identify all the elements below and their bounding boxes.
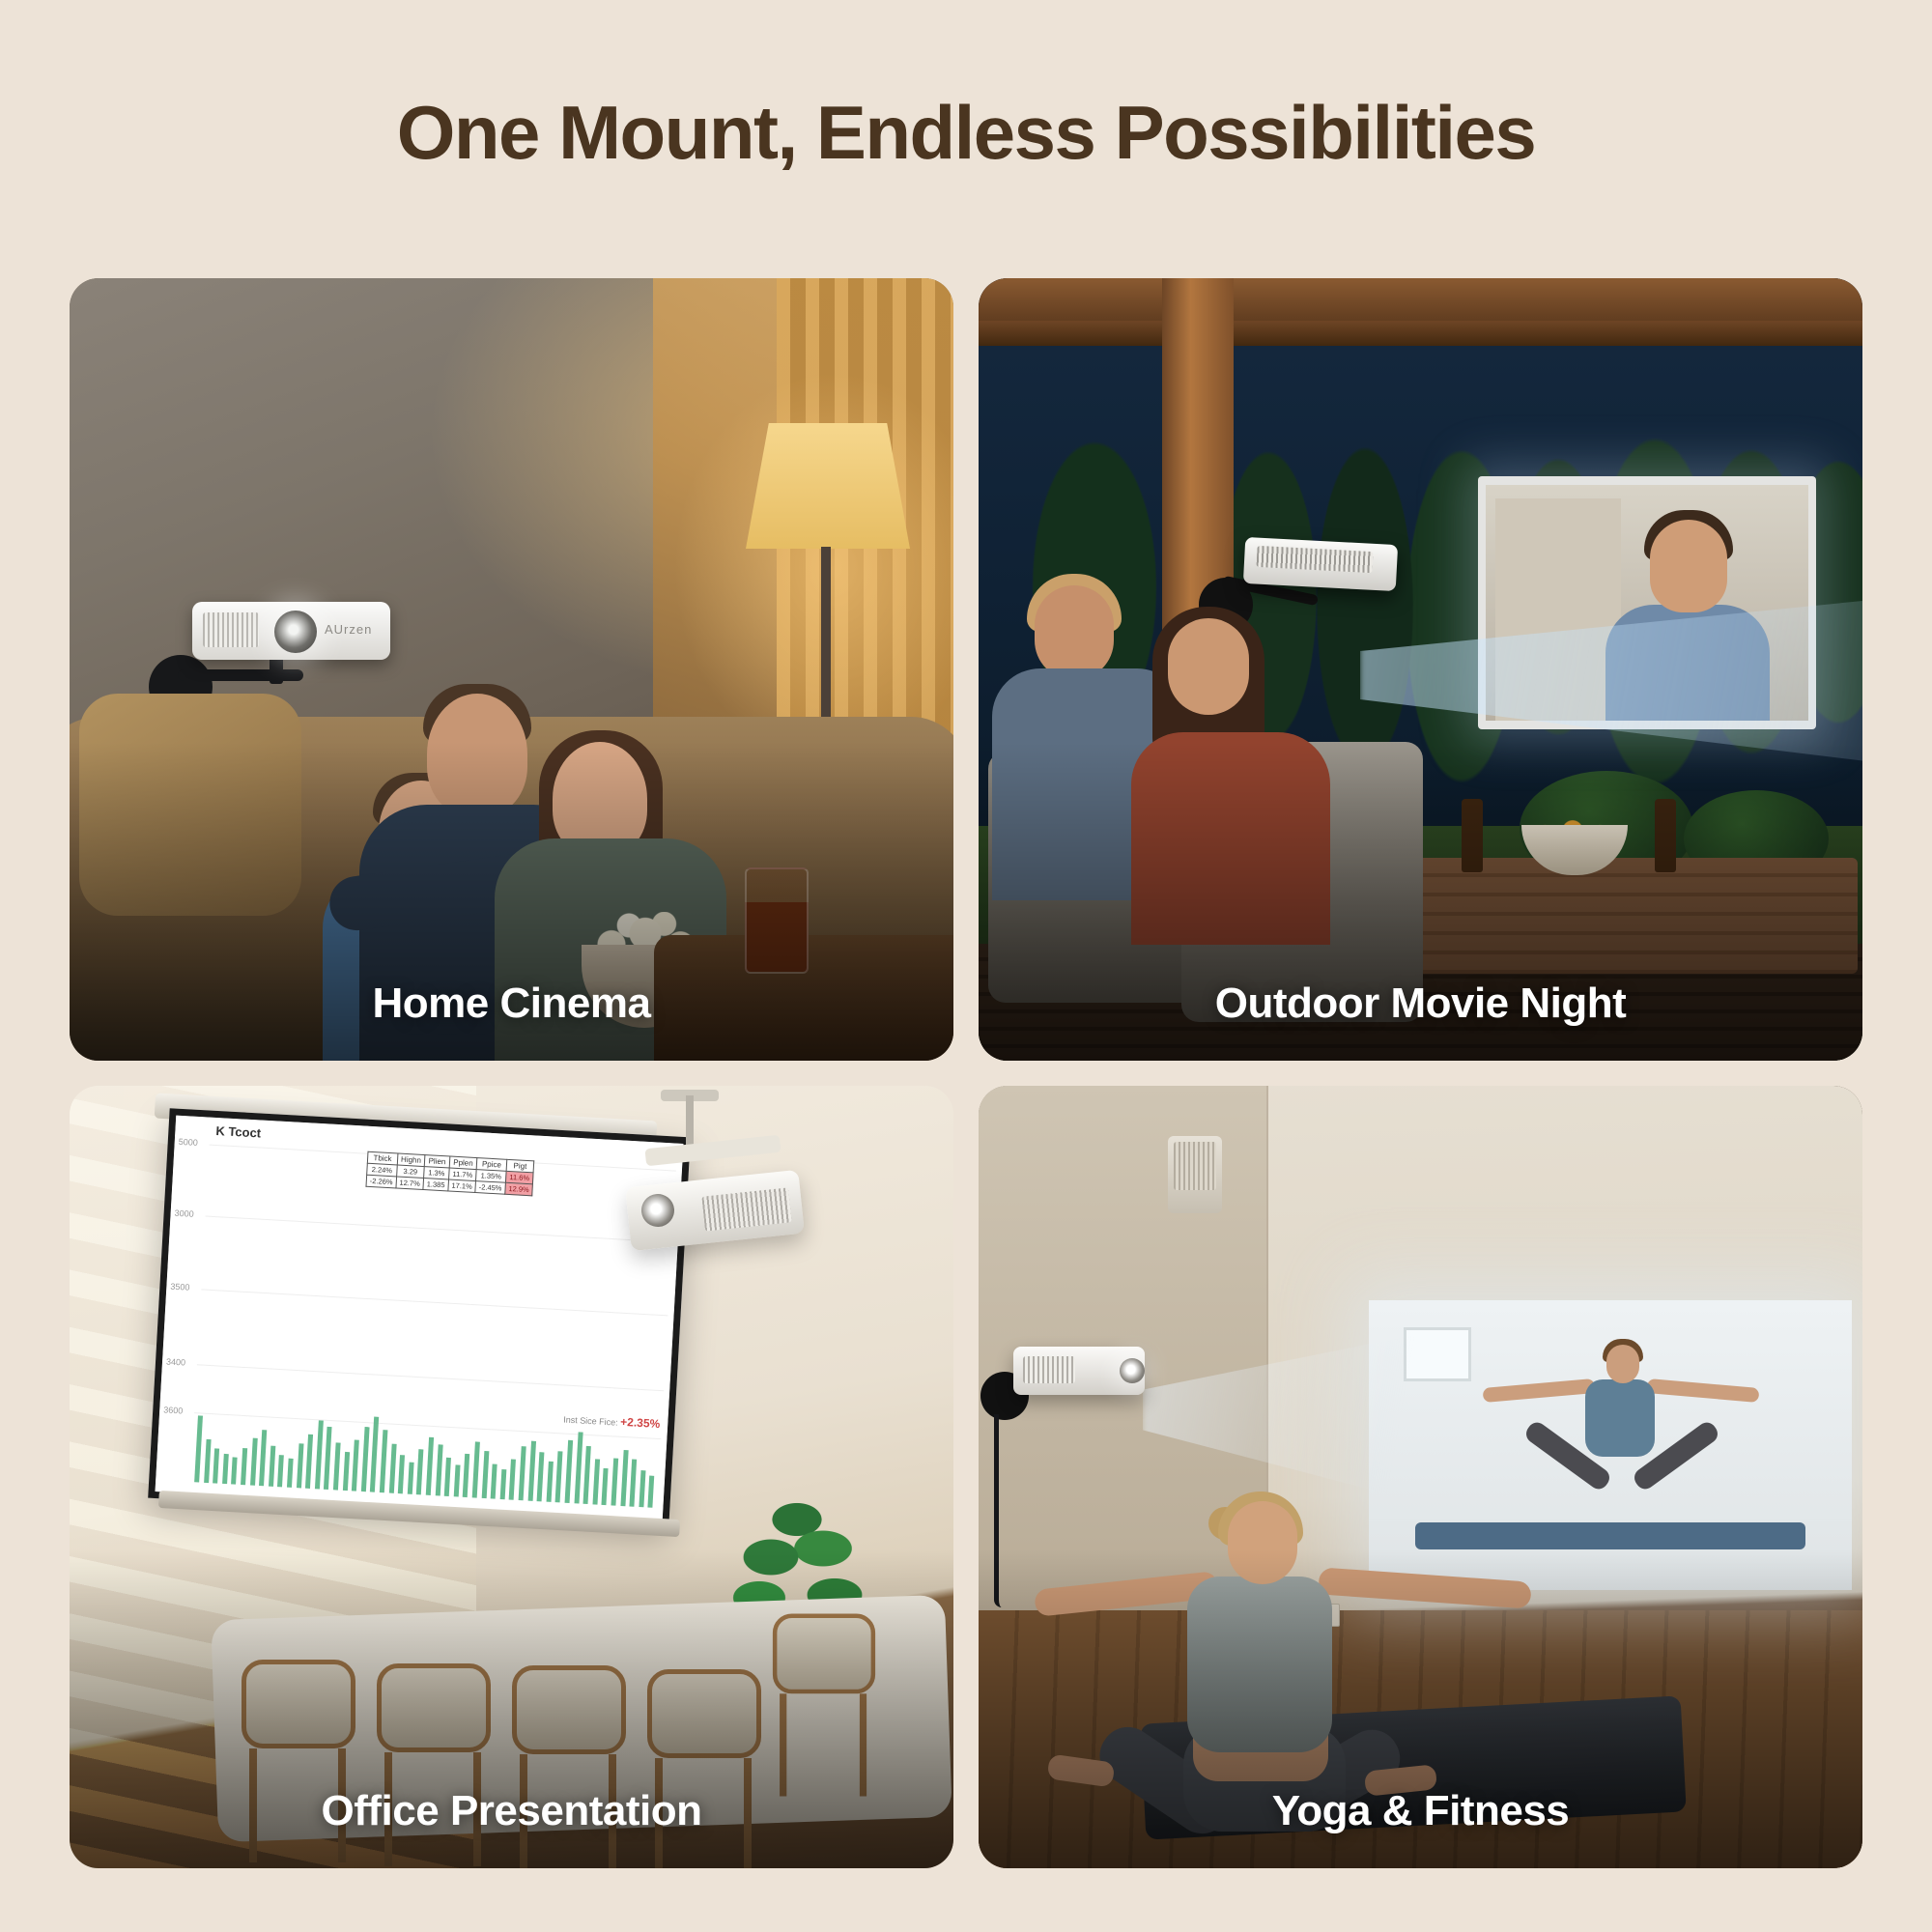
drink-glass — [745, 867, 809, 974]
volume-bar — [592, 1460, 600, 1505]
volume-bar — [250, 1438, 258, 1486]
chart-annotation-value: +2.35% — [620, 1415, 661, 1431]
panel-caption-home-cinema: Home Cinema — [70, 980, 953, 1028]
chart-annotation-label: Inst Sice Fice: — [563, 1415, 618, 1428]
feature-panel-grid: AUrzen Home Cinema — [70, 278, 1862, 1862]
panel-caption-office-presentation: Office Presentation — [70, 1787, 953, 1835]
volume-bar — [463, 1454, 469, 1497]
father-head — [427, 694, 527, 815]
panel-office-presentation[interactable]: K Tcoct 5000 3000 3500 3400 3600 — [70, 1086, 953, 1868]
panel-caption-outdoor-movie-night: Outdoor Movie Night — [979, 980, 1862, 1028]
sofa-cushion — [79, 694, 301, 916]
projector-vent-icon — [203, 612, 259, 647]
volume-bar — [222, 1454, 229, 1484]
panel-caption-yoga-fitness: Yoga & Fitness — [979, 1787, 1862, 1835]
projector-brand-label: AUrzen — [325, 622, 372, 637]
y-tick-label: 3600 — [163, 1405, 184, 1415]
volume-bar — [297, 1444, 304, 1489]
y-tick-label: 3400 — [166, 1356, 186, 1367]
volume-bar — [241, 1448, 247, 1485]
volume-bar — [380, 1430, 388, 1492]
volume-bar — [398, 1455, 405, 1493]
speaker-grille-icon — [1174, 1142, 1216, 1190]
volume-bar — [269, 1445, 275, 1487]
scene-yoga — [979, 1086, 1862, 1868]
volume-bar — [333, 1442, 341, 1490]
patio-table — [1394, 858, 1858, 974]
volume-bar — [435, 1444, 442, 1496]
volume-bar — [639, 1470, 645, 1507]
volume-bar — [620, 1450, 628, 1506]
office-chair — [371, 1663, 497, 1866]
volume-bar — [602, 1468, 609, 1505]
volume-bar — [519, 1446, 526, 1500]
office-chair — [506, 1665, 632, 1868]
volume-bar — [352, 1439, 359, 1492]
volume-bar — [546, 1461, 553, 1502]
page-title: One Mount, Endless Possibilities — [0, 89, 1932, 177]
scene-office: K Tcoct 5000 3000 3500 3400 3600 — [70, 1086, 953, 1868]
volume-bar — [361, 1427, 370, 1492]
volume-bar — [305, 1435, 313, 1489]
volume-bar — [194, 1415, 203, 1482]
power-cable — [994, 1414, 1002, 1607]
panel-home-cinema[interactable]: AUrzen Home Cinema — [70, 278, 953, 1061]
volume-bar — [630, 1460, 638, 1507]
volume-bar — [481, 1451, 489, 1498]
lamp-shade — [746, 423, 910, 549]
volume-bar — [204, 1439, 211, 1483]
projector-lens-icon — [1120, 1358, 1145, 1383]
wall-mount-arm — [178, 669, 303, 681]
volume-bar — [472, 1441, 480, 1497]
scene-outdoor — [979, 278, 1862, 1061]
volume-bar — [527, 1440, 535, 1501]
woman-head — [1228, 1501, 1297, 1584]
woman-sports-top — [1187, 1577, 1332, 1752]
volume-bar — [370, 1417, 379, 1492]
volume-bar — [416, 1449, 424, 1494]
volume-bar — [509, 1459, 516, 1500]
pergola-beam-secondary — [979, 321, 1862, 346]
stock-chart: K Tcoct 5000 3000 3500 3400 3600 — [156, 1116, 684, 1520]
volume-bar — [324, 1427, 332, 1490]
y-tick-label: 5000 — [179, 1137, 199, 1148]
volume-bar — [342, 1452, 349, 1491]
candlestick-series — [201, 1172, 674, 1390]
volume-bar — [454, 1464, 461, 1497]
volume-bar — [574, 1433, 582, 1504]
scene-home-cinema: AUrzen — [70, 278, 953, 1061]
office-chair — [768, 1614, 881, 1797]
volume-bar — [388, 1443, 396, 1492]
chart-title: K Tcoct — [215, 1123, 261, 1141]
volume-bar — [259, 1430, 267, 1486]
man-head — [1035, 585, 1114, 680]
wall-mount-post — [270, 657, 283, 684]
volume-bar — [499, 1469, 506, 1499]
movie-actor-head — [1650, 520, 1727, 612]
office-chair — [641, 1669, 767, 1868]
woman-body — [1131, 732, 1330, 945]
projected-instructor-head — [1606, 1345, 1639, 1383]
volume-bar — [426, 1437, 434, 1495]
volume-bar — [277, 1455, 284, 1488]
volume-bar — [583, 1446, 591, 1504]
projected-instructor-torso — [1585, 1379, 1655, 1457]
volume-bar — [444, 1458, 451, 1496]
projected-yoga-mat — [1415, 1522, 1805, 1549]
volume-bar — [408, 1462, 414, 1494]
volume-bar — [491, 1464, 497, 1499]
volume-bar — [648, 1475, 655, 1508]
volume-bar — [213, 1449, 219, 1484]
projection-screen: K Tcoct 5000 3000 3500 3400 3600 — [148, 1108, 691, 1527]
panel-yoga-fitness[interactable]: Yoga & Fitness — [979, 1086, 1862, 1868]
projector-vent-icon — [1023, 1356, 1075, 1383]
volume-bar — [231, 1458, 238, 1485]
volume-bar — [611, 1458, 618, 1505]
volume-bar — [565, 1440, 574, 1503]
volume-bar — [287, 1459, 294, 1488]
y-tick-label: 3000 — [174, 1208, 194, 1219]
y-tick-label: 3500 — [170, 1282, 190, 1293]
volume-bar — [537, 1452, 545, 1501]
volume-bar — [555, 1451, 563, 1503]
ceiling-mount-pole — [686, 1095, 694, 1146]
panel-outdoor-movie-night[interactable]: Outdoor Movie Night — [979, 278, 1862, 1061]
projector-lens-icon — [274, 611, 317, 653]
beer-bottle — [1462, 799, 1483, 872]
beer-bottle — [1655, 799, 1676, 872]
woman-head — [1168, 618, 1249, 715]
promo-page: One Mount, Endless Possibilities AUrzen — [0, 0, 1932, 1932]
volume-bar — [315, 1420, 324, 1489]
